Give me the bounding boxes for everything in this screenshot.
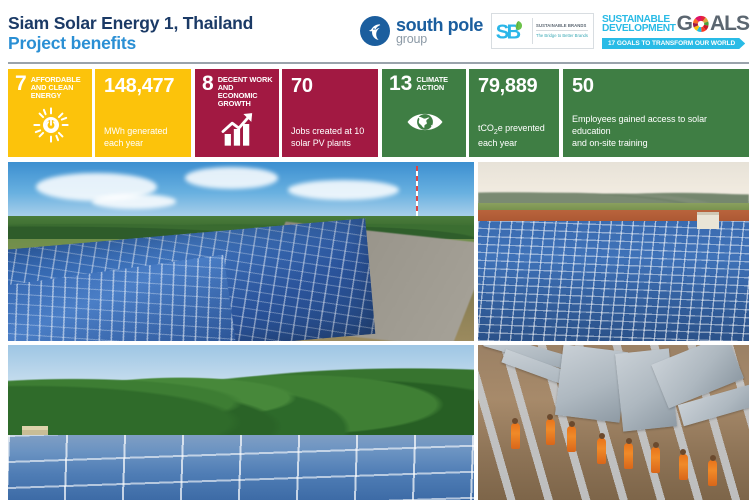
monk-figure <box>651 447 660 473</box>
sdg-logo-top: SUSTAINABLE DEVELOPMENT G <box>602 12 749 36</box>
sdg-badge-13-head: 13 Climate action <box>389 75 460 93</box>
page-title: Siam Solar Energy 1, Thailand <box>8 13 253 33</box>
stat-group-energy: 7 Affordable and clean energy <box>8 69 191 157</box>
stat-card-jobs: 70 Jobs created at 10 solar PV plants <box>282 69 378 157</box>
stat-desc-employees: Employees gained access to solar educati… <box>572 113 741 149</box>
stat-desc-energy: MWh generated each year <box>104 125 183 149</box>
sun-power-icon <box>15 100 86 153</box>
sdg-badge-7-label: Affordable and clean energy <box>31 75 86 100</box>
infographic-page: Siam Solar Energy 1, Thailand Project be… <box>0 0 755 504</box>
photo1-cloud <box>92 194 176 208</box>
stat-value-climate: 79,889 <box>478 76 551 96</box>
stat-desc-climate-line2: each year <box>478 137 551 149</box>
stat-desc-employees-line1: Employees gained access to solar educati… <box>572 113 741 137</box>
photo2-panel-array <box>478 221 749 341</box>
sdg-badge-13-label: Climate action <box>416 75 460 92</box>
photo1-cloud <box>185 167 278 188</box>
title-block: Siam Solar Energy 1, Thailand Project be… <box>8 8 253 53</box>
stat-card-climate: 79,889 tCO2e prevented each year <box>469 69 559 157</box>
page-subtitle: Project benefits <box>8 33 253 53</box>
photo1-cloud <box>288 180 400 200</box>
header-divider <box>8 62 749 64</box>
sdg-goals-g: G <box>677 12 692 36</box>
stat-desc-employees-line2: and on-site training <box>572 137 741 149</box>
stat-desc-energy-line2: each year <box>104 137 183 149</box>
monk-figure <box>597 438 606 464</box>
sb-line1: SUSTAINABLE BRANDS <box>536 23 588 28</box>
sdg-words: SUSTAINABLE DEVELOPMENT <box>602 15 676 34</box>
photo-monks-walking-among-solar-panels <box>478 345 749 500</box>
stat-value-jobs: 70 <box>291 76 370 96</box>
monk-figure <box>708 460 717 486</box>
stat-desc-climate-prefix: tCO <box>478 123 494 133</box>
stat-desc-climate: tCO2e prevented each year <box>478 122 551 149</box>
header: Siam Solar Energy 1, Thailand Project be… <box>0 0 755 62</box>
sdg-logo: SUSTAINABLE DEVELOPMENT G <box>602 12 749 49</box>
photo-solar-farm-panel-rows-with-road <box>8 162 474 341</box>
stat-desc-energy-line1: MWh generated <box>104 125 183 137</box>
stat-group-climate: 13 Climate action 79,889 tCO2e prevented <box>382 69 559 157</box>
photo3-panel-surface <box>8 435 474 500</box>
photo1-telecom-mast <box>416 166 419 220</box>
sdg-banner: 17 GOALS TO TRANSFORM OUR WORLD <box>602 38 745 49</box>
growth-bar-chart-icon <box>202 108 273 153</box>
stat-desc-climate-suffix: e prevented <box>498 123 545 133</box>
sb-monogram-icon: S B <box>495 16 529 46</box>
stat-value-employees: 50 <box>572 76 741 96</box>
sb-divider <box>532 18 533 44</box>
sustainable-brands-logo: S B SUSTAINABLE BRANDS The Bridge to Bet… <box>491 13 594 49</box>
sdg-badge-7-head: 7 Affordable and clean energy <box>15 75 86 100</box>
sdg-badge-8-number: 8 <box>202 75 214 93</box>
sdg-badge-7-number: 7 <box>15 75 27 93</box>
photo-grid <box>8 162 749 500</box>
sdg-goals-als: ALS <box>710 12 749 36</box>
south-pole-wordmark: south pole group <box>396 16 483 46</box>
south-pole-logo: south pole group <box>360 16 483 46</box>
stat-desc-jobs: Jobs created at 10 solar PV plants <box>291 125 370 149</box>
sdg-badge-8-label: Decent work and economic growth <box>218 75 273 108</box>
stat-card-employees: 50 Employees gained access to solar educ… <box>563 69 749 157</box>
monk-figure <box>511 423 520 449</box>
stat-card-row: 7 Affordable and clean energy <box>8 69 749 157</box>
sdg-badge-7: 7 Affordable and clean energy <box>8 69 92 157</box>
sb-line2: The Bridge to Better Brands <box>536 33 588 38</box>
sdg-badge-8-head: 8 Decent work and economic growth <box>202 75 273 108</box>
south-pole-bird-icon <box>360 16 390 46</box>
sdg-goals-wordmark: G <box>677 12 749 36</box>
stat-desc-climate-line1: tCO2e prevented <box>478 122 551 137</box>
stat-group-jobs: 8 Decent work and economic growth 70 <box>195 69 378 157</box>
monk-figure <box>624 443 633 469</box>
photo-dense-solar-array-with-hills <box>478 162 749 341</box>
sdg-word-development: DEVELOPMENT <box>602 24 676 33</box>
sdg-badge-13: 13 Climate action <box>382 69 466 157</box>
monk-figure <box>679 454 688 480</box>
sdg-badge-13-number: 13 <box>389 75 412 93</box>
photo-solar-panels-tropical-forest <box>8 345 474 500</box>
sdg-badge-8: 8 Decent work and economic growth <box>195 69 279 157</box>
sdg-color-wheel-icon <box>692 15 710 33</box>
stat-desc-jobs-line1: Jobs created at 10 <box>291 125 370 137</box>
logo-row: south pole group S B SUSTAINABLE BRANDS <box>360 8 749 49</box>
sb-wordmark: SUSTAINABLE BRANDS The Bridge to Better … <box>536 16 590 46</box>
sb-rule <box>536 30 588 31</box>
eye-globe-icon <box>389 93 460 153</box>
monk-figure <box>567 426 576 452</box>
photo2-substation-hut <box>697 212 719 229</box>
monk-figure <box>546 419 555 445</box>
stat-desc-jobs-line2: solar PV plants <box>291 137 370 149</box>
photo3-forest <box>8 345 474 441</box>
stat-value-energy: 148,477 <box>104 76 183 96</box>
stat-card-energy: 148,477 MWh generated each year <box>95 69 191 157</box>
